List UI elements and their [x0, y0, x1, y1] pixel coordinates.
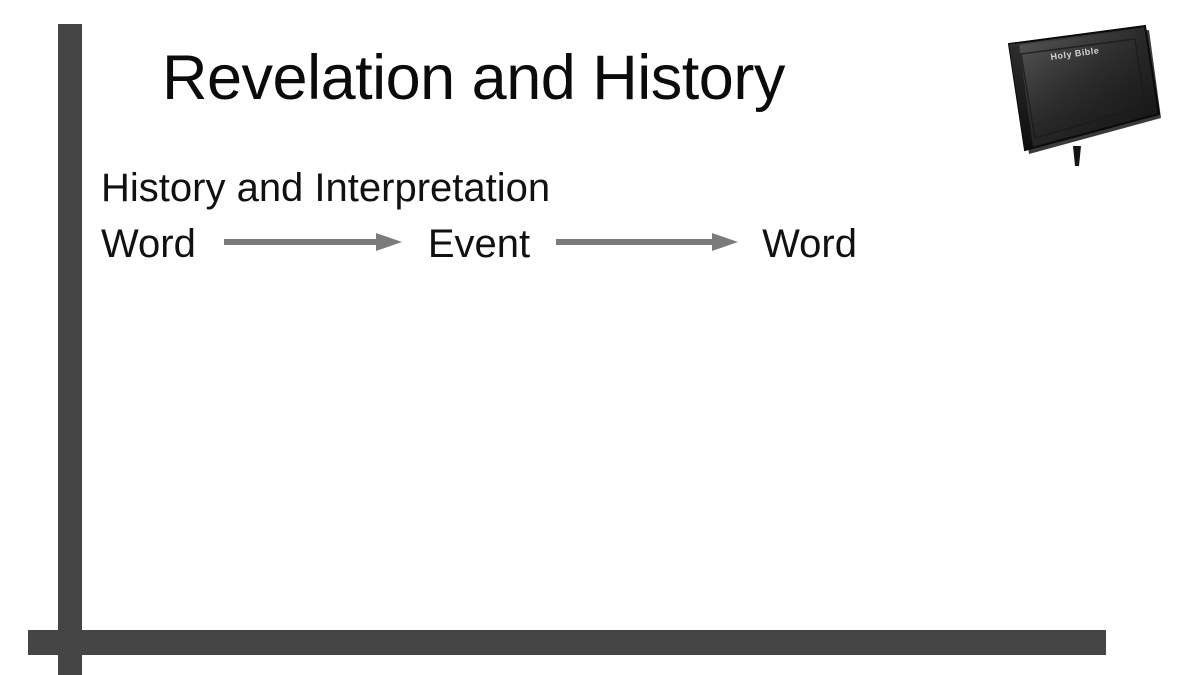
page-title: Revelation and History — [162, 46, 922, 110]
word-event-word-diagram: Word Event Word — [101, 218, 1001, 270]
subheading: History and Interpretation — [101, 163, 1001, 214]
frame-vertical-bar — [58, 24, 82, 675]
frame-horizontal-bar — [28, 630, 1106, 655]
flow-node-word-first: Word — [101, 224, 196, 264]
holy-bible-image: Holy Bible — [985, 14, 1185, 174]
body-content: History and Interpretation Word Event Wo… — [101, 163, 1001, 270]
arrow-right-icon — [556, 229, 738, 260]
flow-node-event: Event — [428, 224, 530, 264]
flow-node-word-second: Word — [762, 224, 857, 264]
arrow-right-icon — [224, 229, 402, 260]
slide-canvas: Revelation and History History and Inter… — [0, 0, 1200, 675]
